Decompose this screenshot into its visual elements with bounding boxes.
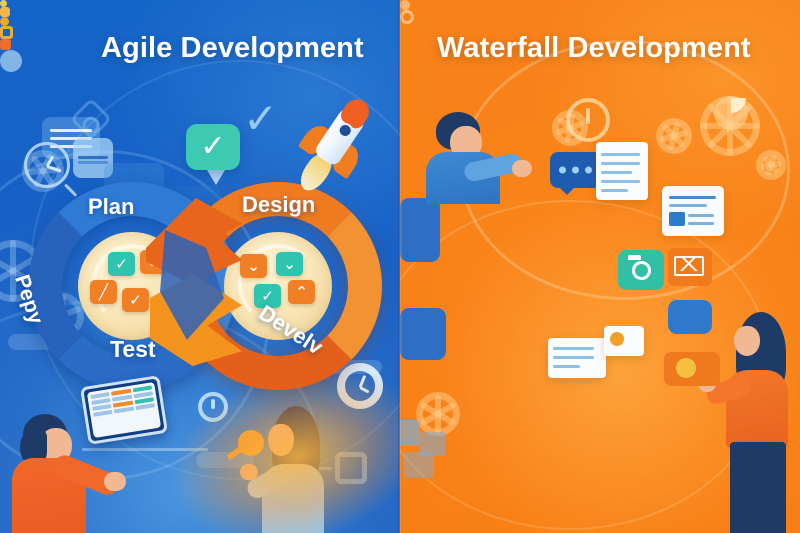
legs <box>730 442 786 533</box>
chat-dot <box>572 167 579 174</box>
panel-divider <box>398 0 402 533</box>
loop-chip: ✓ <box>108 252 135 276</box>
face <box>734 326 760 356</box>
panel-tile-decor <box>668 300 712 334</box>
tablet-row <box>135 403 155 410</box>
panel-tile-decor <box>400 308 446 360</box>
box-stack-icon <box>404 452 434 478</box>
loop-chip: ⌄ <box>276 252 303 276</box>
tablet-kanban-device <box>80 375 168 445</box>
agile-infinity-loop: ✓ ≡ ╱ ✓ ⌄ ⌄ ✓ ⌃ Plan Pepy Test Design De… <box>24 178 386 393</box>
camera-top <box>628 255 641 260</box>
chat-bubble-icon <box>550 152 602 188</box>
document-icon <box>548 338 606 378</box>
loop-arrow-icon <box>566 98 610 142</box>
chat-dot <box>559 167 566 174</box>
loop-chip: ╱ <box>90 280 117 304</box>
doc-badge <box>610 332 624 346</box>
tablet-row <box>93 410 113 417</box>
document-icon <box>596 142 648 200</box>
loop-chip: ⌄ <box>240 254 267 278</box>
square-decor <box>0 7 10 17</box>
check-shield-icon: ✓ <box>186 124 240 170</box>
agile-panel-title: Agile Development <box>101 32 364 65</box>
loop-chip: ✓ <box>122 288 149 312</box>
gear-icon <box>756 150 786 180</box>
tablet-column <box>132 385 157 428</box>
timeline-node <box>0 17 9 26</box>
box-stack-icon <box>400 420 420 446</box>
loop-label-design: Design <box>242 192 315 218</box>
tablet-row <box>114 407 134 414</box>
panel-tile-decor <box>400 198 440 262</box>
timeline-node <box>0 26 13 39</box>
pie-chart-icon <box>714 96 748 130</box>
envelope-flap <box>674 256 704 276</box>
waterfall-panel-title: Waterfall Development <box>437 32 751 65</box>
dot-decor <box>0 0 7 7</box>
timeline-node <box>0 50 22 72</box>
tablet-screen <box>87 382 161 438</box>
check-mark-icon: ✓ <box>243 98 278 140</box>
doc-thumbnail <box>669 212 685 226</box>
chat-dot <box>585 167 592 174</box>
bell-badge-icon <box>676 358 696 378</box>
document-icon <box>662 186 724 236</box>
document-icon <box>604 326 644 356</box>
gear-icon <box>416 392 460 436</box>
down-arrow-icon <box>207 170 225 185</box>
gear-icon <box>656 118 692 154</box>
dot-decor <box>400 10 414 24</box>
timeline-node <box>0 39 11 50</box>
check-glyph: ✓ <box>200 132 225 162</box>
loop-label-plan: Plan <box>88 194 134 220</box>
waterfall-panel: Requirements Design Development Testing … <box>400 0 800 533</box>
camera-lens <box>632 261 651 280</box>
camera-icon <box>618 250 664 290</box>
loop-label-test: Test <box>110 336 156 363</box>
infographic-canvas: ✓ ✓ ✓ ≡ ╱ <box>0 0 800 533</box>
hand <box>512 160 532 177</box>
agile-panel: ✓ ✓ ✓ ≡ ╱ <box>0 0 400 533</box>
loop-chip: ⌃ <box>288 280 315 304</box>
envelope-icon <box>668 248 712 286</box>
sparkle-icon <box>210 108 224 122</box>
plus-icon <box>126 112 144 130</box>
hand <box>104 472 126 491</box>
